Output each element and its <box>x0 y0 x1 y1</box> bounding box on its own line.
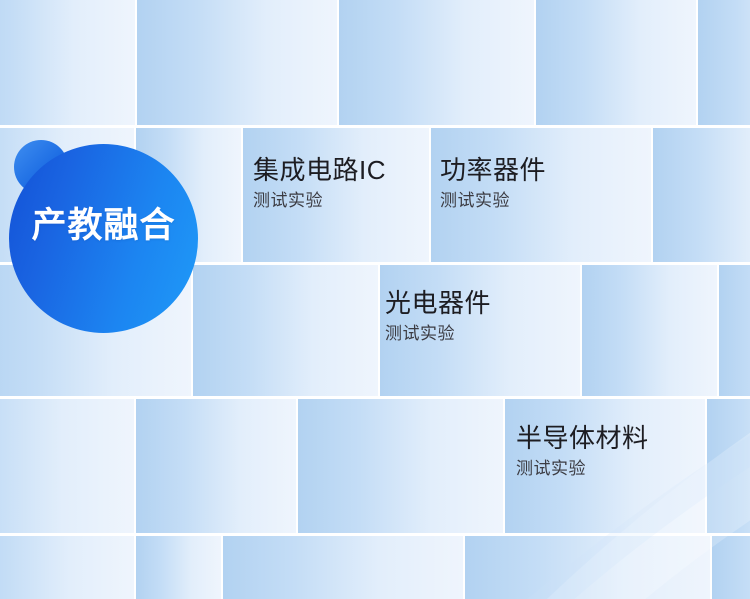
label-subtitle: 测试实验 <box>253 190 386 213</box>
poster-canvas: 产教融合 集成电路IC测试实验功率器件测试实验光电器件测试实验半导体材料测试实验 <box>0 0 750 599</box>
background-brick <box>653 128 750 262</box>
background-brick <box>719 265 750 396</box>
label-title: 集成电路IC <box>253 155 386 187</box>
background-brick <box>536 0 696 125</box>
label-subtitle: 测试实验 <box>440 190 546 213</box>
label-subtitle: 测试实验 <box>516 458 649 481</box>
background-brick <box>582 265 717 396</box>
background-brick <box>223 536 463 599</box>
label-title: 光电器件 <box>385 288 491 320</box>
background-brick <box>712 536 750 599</box>
background-brick <box>0 536 134 599</box>
background-brick <box>339 0 534 125</box>
background-brick <box>136 536 221 599</box>
label-title: 半导体材料 <box>516 423 649 455</box>
brick-row <box>0 0 750 125</box>
badge-label: 产教融合 <box>31 208 175 243</box>
background-brick <box>136 399 296 533</box>
background-brick <box>193 265 378 396</box>
background-brick <box>465 536 710 599</box>
label-semiconductor-material: 半导体材料测试实验 <box>516 423 649 481</box>
label-integrated-circuit-ic: 集成电路IC测试实验 <box>253 155 386 213</box>
background-brick <box>0 0 135 125</box>
badge-circle: 产教融合 <box>9 144 198 333</box>
brick-row <box>0 536 750 599</box>
badge: 产教融合 <box>0 128 215 283</box>
label-title: 功率器件 <box>440 155 546 187</box>
label-power-device: 功率器件测试实验 <box>440 155 546 213</box>
background-brick <box>298 399 503 533</box>
background-brick <box>707 399 750 533</box>
background-brick <box>698 0 750 125</box>
background-brick <box>137 0 337 125</box>
background-brick <box>0 399 134 533</box>
label-optoelectronic-device: 光电器件测试实验 <box>385 288 491 346</box>
label-subtitle: 测试实验 <box>385 323 491 346</box>
